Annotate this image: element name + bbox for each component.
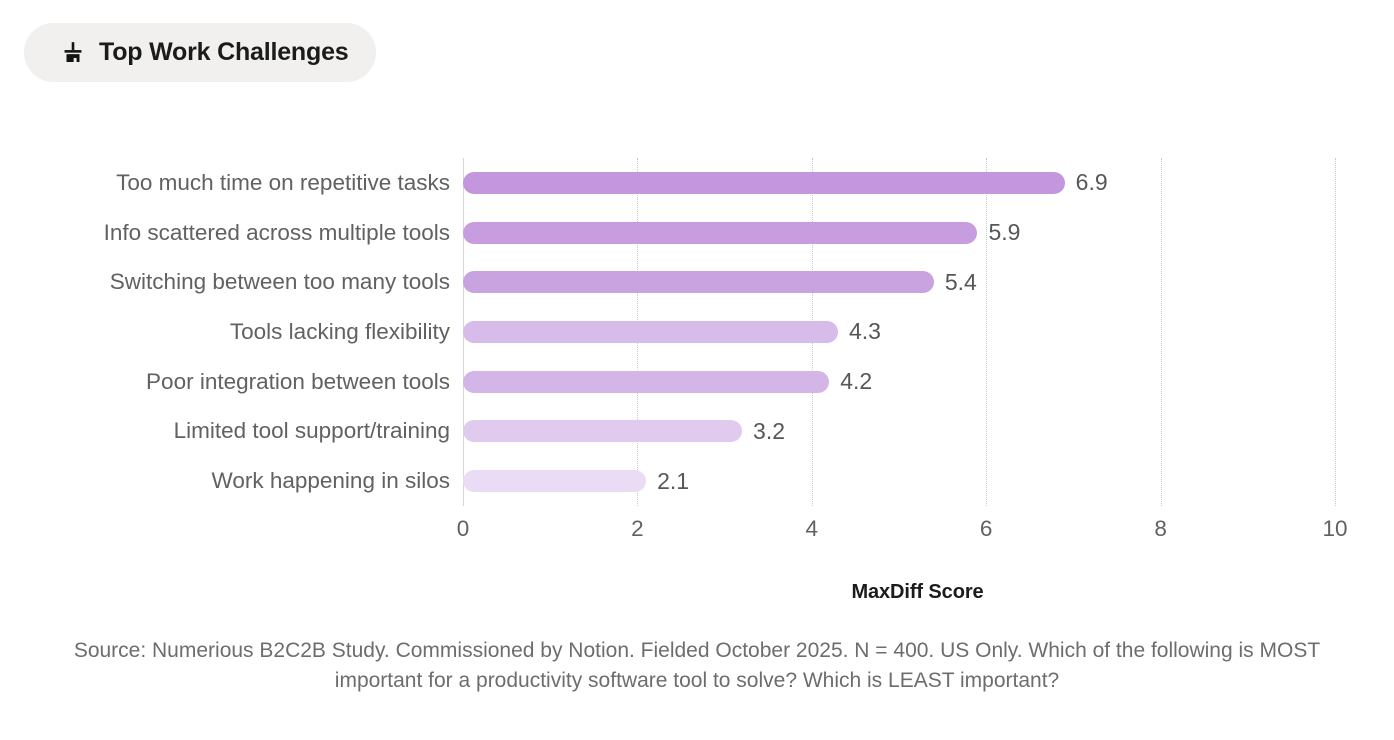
bar[interactable] [463, 222, 977, 244]
bar-value-label: 5.4 [945, 271, 977, 294]
bar-value-label: 5.9 [988, 221, 1020, 244]
bar-row[interactable]: 4.2 [463, 357, 1335, 407]
bar[interactable] [463, 420, 742, 442]
x-tick-label: 0 [457, 518, 470, 541]
x-tick-label: 2 [631, 518, 644, 541]
bar-row[interactable]: 5.4 [463, 257, 1335, 307]
category-label: Poor integration between tools [20, 370, 450, 393]
x-tick-label: 6 [980, 518, 993, 541]
bar[interactable] [463, 271, 934, 293]
x-axis-title: MaxDiff Score [0, 581, 1394, 604]
bar-value-label: 6.9 [1076, 171, 1108, 194]
bar[interactable] [463, 321, 838, 343]
bar-row[interactable]: 6.9 [463, 158, 1335, 208]
bar-row[interactable]: 3.2 [463, 407, 1335, 457]
plot-area: 6.95.95.44.34.23.22.1 [463, 158, 1335, 506]
x-tick-label: 10 [1322, 518, 1347, 541]
category-label: Info scattered across multiple tools [20, 221, 450, 244]
bar-value-label: 2.1 [657, 470, 689, 493]
bar-row[interactable]: 4.3 [463, 307, 1335, 357]
horizontal-bar-chart: 6.95.95.44.34.23.22.1 0246810 MaxDiff Sc… [0, 0, 1394, 740]
bar-row[interactable]: 5.9 [463, 208, 1335, 258]
category-label: Too much time on repetitive tasks [20, 172, 450, 195]
bar-value-label: 4.2 [840, 370, 872, 393]
bar[interactable] [463, 470, 646, 492]
x-axis-title-label: MaxDiff Score [851, 581, 983, 604]
bar-value-label: 4.3 [849, 320, 881, 343]
bar[interactable] [463, 371, 829, 393]
category-label: Limited tool support/training [20, 420, 450, 443]
bar-row[interactable]: 2.1 [463, 456, 1335, 506]
bar[interactable] [463, 172, 1065, 194]
x-tick-label: 4 [806, 518, 819, 541]
bar-value-label: 3.2 [753, 420, 785, 443]
category-label: Tools lacking flexibility [20, 321, 450, 344]
source-note: Source: Numerious B2C2B Study. Commissio… [0, 636, 1394, 696]
category-label: Switching between too many tools [20, 271, 450, 294]
x-tick-label: 8 [1154, 518, 1167, 541]
gridline [1335, 158, 1336, 506]
category-label: Work happening in silos [20, 470, 450, 493]
